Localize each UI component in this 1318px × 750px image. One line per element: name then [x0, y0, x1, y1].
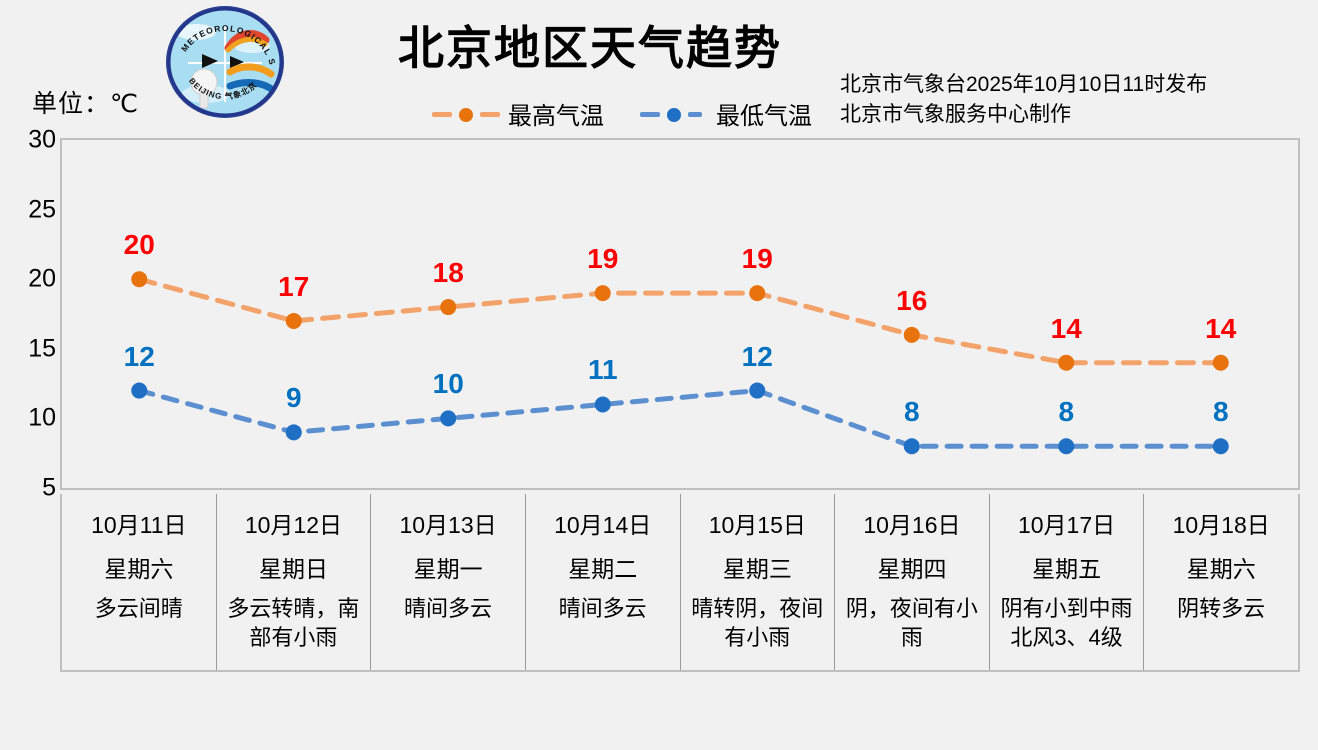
forecast-column-1[interactable]: 10月12日星期日多云转晴，南部有小雨: [217, 494, 372, 670]
data-point-low-1[interactable]: [286, 424, 302, 440]
data-point-low-3[interactable]: [595, 396, 611, 412]
forecast-date: 10月18日: [1173, 506, 1270, 540]
data-point-low-6[interactable]: [1058, 438, 1074, 454]
value-label-high-3: 19: [587, 243, 618, 275]
unit-label: 单位：℃: [32, 84, 139, 120]
forecast-weekday: 星期四: [877, 550, 946, 584]
forecast-date: 10月15日: [709, 506, 806, 540]
publish-line-2: 北京市气象服务中心制作: [840, 100, 1207, 130]
forecast-column-0[interactable]: 10月11日星期六多云间晴: [62, 494, 217, 670]
forecast-description: 晴间多云: [399, 594, 497, 623]
legend-label-high: 最高气温: [508, 96, 604, 131]
y-axis-tick-5: 5: [10, 474, 56, 503]
data-point-high-1[interactable]: [286, 313, 302, 329]
forecast-weekday: 星期三: [723, 550, 792, 584]
forecast-weekday: 星期日: [259, 550, 328, 584]
legend-marker-low-icon: [640, 105, 708, 123]
legend-marker-high-icon: [432, 105, 500, 123]
forecast-description: 晴转阴，夜间有小雨: [681, 594, 835, 652]
data-point-high-4[interactable]: [749, 285, 765, 301]
page-title: 北京地区天气趋势: [398, 12, 782, 78]
forecast-date: 10月14日: [554, 506, 651, 540]
forecast-column-6[interactable]: 10月17日星期五阴有小到中雨北风3、4级: [990, 494, 1145, 670]
forecast-column-3[interactable]: 10月14日星期二晴间多云: [526, 494, 681, 670]
data-point-high-3[interactable]: [595, 285, 611, 301]
value-label-high-2: 18: [433, 257, 464, 289]
publish-info: 北京市气象台2025年10月10日11时发布 北京市气象服务中心制作: [840, 70, 1207, 131]
y-axis-tick-30: 30: [10, 126, 56, 155]
forecast-weekday: 星期六: [104, 550, 173, 584]
forecast-date: 10月12日: [245, 506, 342, 540]
forecast-column-2[interactable]: 10月13日星期一晴间多云: [371, 494, 526, 670]
value-label-high-0: 20: [124, 229, 155, 261]
value-label-low-7: 8: [1213, 396, 1229, 428]
forecast-column-4[interactable]: 10月15日星期三晴转阴，夜间有小雨: [681, 494, 836, 670]
value-label-low-6: 8: [1058, 396, 1074, 428]
data-point-low-2[interactable]: [440, 410, 456, 426]
y-axis-tick-20: 20: [10, 265, 56, 294]
value-label-low-1: 9: [286, 382, 302, 414]
forecast-description: 晴间多云: [554, 594, 652, 623]
legend-label-low: 最低气温: [716, 96, 812, 131]
forecast-description: 多云间晴: [90, 594, 188, 623]
forecast-date: 10月13日: [399, 506, 496, 540]
forecast-description: 阴，夜间有小雨: [835, 594, 989, 652]
forecast-weekday: 星期六: [1187, 550, 1256, 584]
data-point-low-0[interactable]: [131, 383, 147, 399]
value-label-low-3: 11: [588, 354, 618, 386]
y-axis-tick-25: 25: [10, 195, 56, 224]
data-point-low-7[interactable]: [1213, 438, 1229, 454]
y-axis-tick-15: 15: [10, 334, 56, 363]
data-point-low-5[interactable]: [904, 438, 920, 454]
forecast-column-5[interactable]: 10月16日星期四阴，夜间有小雨: [835, 494, 990, 670]
publish-line-1: 北京市气象台2025年10月10日11时发布: [840, 70, 1207, 100]
chart-series-svg: [62, 140, 1298, 488]
data-point-high-7[interactable]: [1213, 355, 1229, 371]
legend-item-high[interactable]: 最高气温: [432, 96, 604, 131]
value-label-high-5: 16: [896, 285, 927, 317]
forecast-weekday: 星期一: [414, 550, 483, 584]
y-axis-tick-10: 10: [10, 404, 56, 433]
value-label-low-5: 8: [904, 396, 920, 428]
logo-artwork: METEOROLOGICAL SERVICE BEIJING 气象北京: [166, 6, 284, 118]
value-label-high-1: 17: [278, 271, 309, 303]
data-point-low-4[interactable]: [749, 383, 765, 399]
legend-item-low[interactable]: 最低气温: [640, 96, 812, 131]
value-label-low-0: 12: [124, 341, 155, 373]
forecast-table: 10月11日星期六多云间晴10月12日星期日多云转晴，南部有小雨10月13日星期…: [60, 494, 1300, 672]
value-label-low-2: 10: [433, 368, 464, 400]
forecast-date: 10月11日: [91, 506, 186, 540]
chart-plot-area: [60, 138, 1300, 490]
forecast-column-7[interactable]: 10月18日星期六阴转多云: [1144, 494, 1298, 670]
forecast-description: 多云转晴，南部有小雨: [217, 594, 371, 652]
forecast-description: 阴转多云: [1172, 594, 1270, 623]
forecast-date: 10月16日: [863, 506, 960, 540]
data-point-high-0[interactable]: [131, 271, 147, 287]
value-label-high-6: 14: [1051, 313, 1082, 345]
chart-legend: 最高气温 最低气温: [432, 96, 812, 131]
forecast-weekday: 星期二: [568, 550, 637, 584]
value-label-high-7: 14: [1205, 313, 1236, 345]
forecast-weekday: 星期五: [1032, 550, 1101, 584]
forecast-date: 10月17日: [1018, 506, 1115, 540]
data-point-high-5[interactable]: [904, 327, 920, 343]
value-label-high-4: 19: [742, 243, 773, 275]
value-label-low-4: 12: [742, 341, 773, 373]
data-point-high-6[interactable]: [1058, 355, 1074, 371]
data-point-high-2[interactable]: [440, 299, 456, 315]
forecast-description: 阴有小到中雨北风3、4级: [990, 594, 1144, 652]
beijing-meteorological-service-logo: METEOROLOGICAL SERVICE BEIJING 气象北京: [166, 6, 284, 118]
